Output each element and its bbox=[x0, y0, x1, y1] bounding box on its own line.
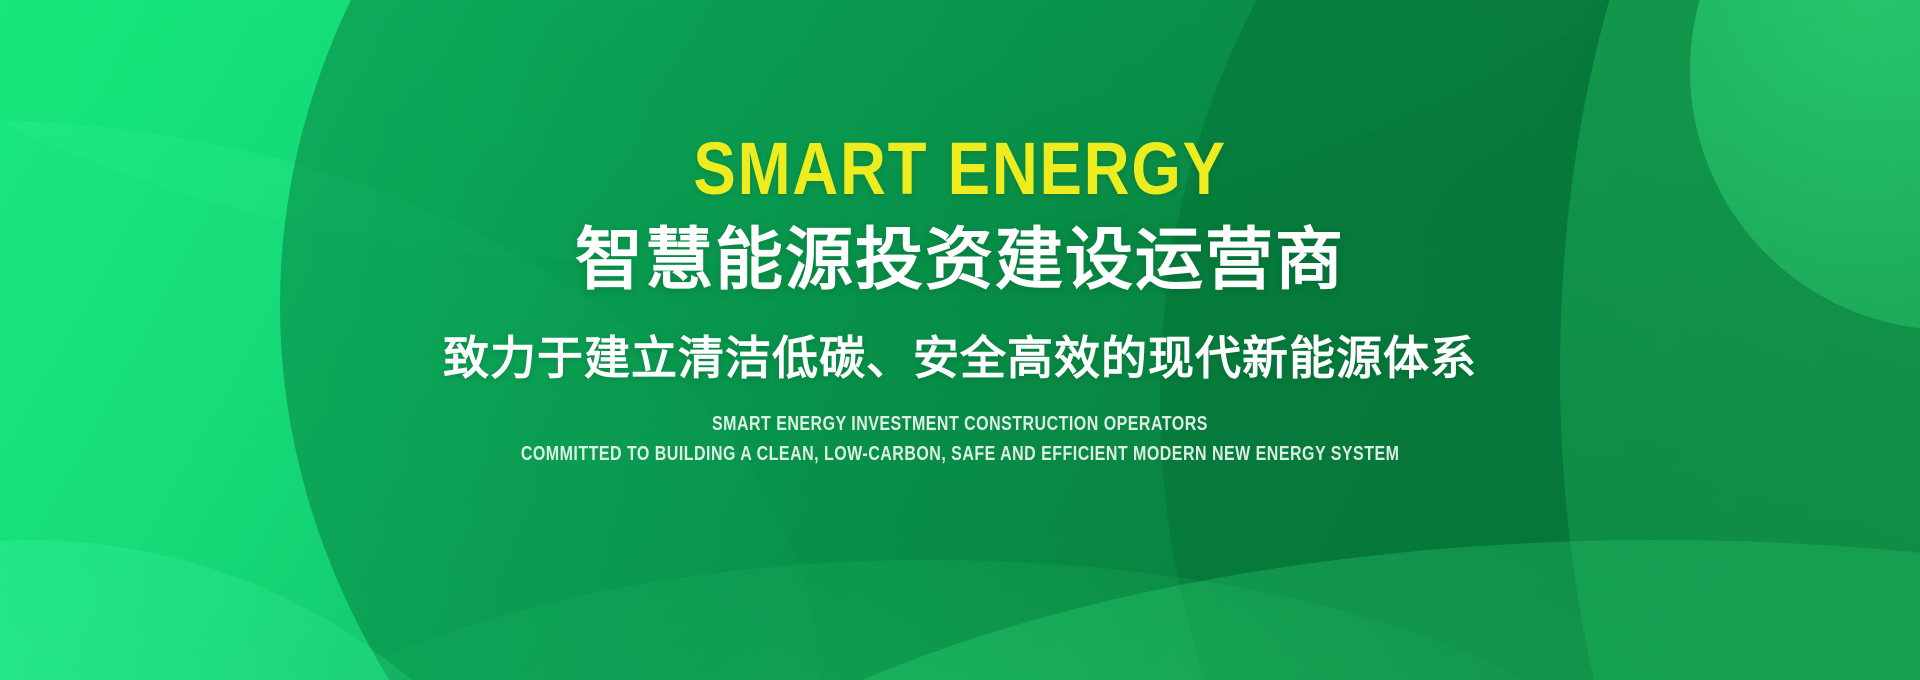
banner-content: SMART ENERGY 智慧能源投资建设运营商 致力于建立清洁低碳、安全高效的… bbox=[0, 0, 1920, 680]
banner-subtitle-chinese: 致力于建立清洁低碳、安全高效的现代新能源体系 bbox=[443, 331, 1477, 386]
banner-title-chinese: 智慧能源投资建设运营商 bbox=[575, 224, 1345, 297]
hero-banner: SMART ENERGY 智慧能源投资建设运营商 致力于建立清洁低碳、安全高效的… bbox=[0, 0, 1920, 680]
banner-caption-block: SMART ENERGY INVESTMENT CONSTRUCTION OPE… bbox=[411, 413, 1509, 466]
banner-title-english: SMART ENERGY bbox=[693, 132, 1226, 206]
banner-caption-line-1: SMART ENERGY INVESTMENT CONSTRUCTION OPE… bbox=[712, 413, 1208, 436]
banner-caption-line-2: COMMITTED TO BUILDING A CLEAN, LOW-CARBO… bbox=[521, 443, 1400, 466]
